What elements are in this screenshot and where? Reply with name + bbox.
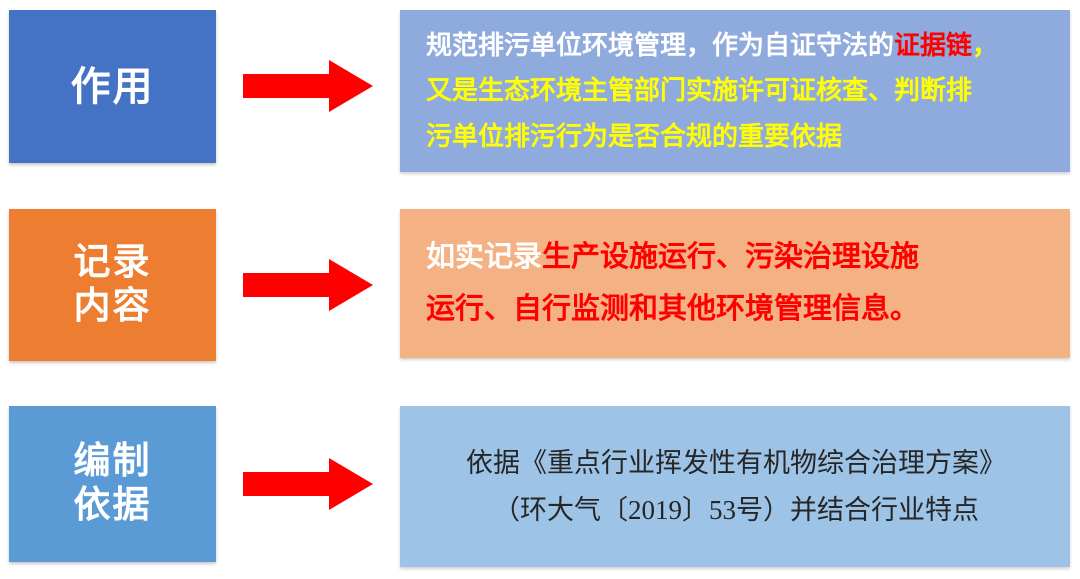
content-text-segment: 如实记录 — [426, 241, 542, 273]
content-text-segment: ， — [972, 31, 998, 60]
row-label-line: 作用 — [71, 63, 155, 110]
diagram-row: 记录内容 如实记录生产设施运行、污染治理设施运行、自行监测和其他环境管理信息。 — [0, 196, 1080, 391]
row-label-line: 内容 — [74, 285, 152, 329]
row-content-box: 依据《重点行业挥发性有机物综合治理方案》（环大气〔2019〕53号）并结合行业特… — [400, 406, 1070, 567]
content-text-line: （环大气〔2019〕53号）并结合行业特点 — [493, 487, 979, 533]
diagram-row: 作用 规范排污单位环境管理，作为自证守法的证据链，又是生态环境主管部门实施许可证… — [0, 0, 1080, 190]
row-label-line: 编制 — [74, 440, 152, 484]
row-content-box: 如实记录生产设施运行、污染治理设施运行、自行监测和其他环境管理信息。 — [400, 209, 1070, 358]
content-text-segment: 规范排污单位环境管理，作为自证守法的 — [426, 31, 894, 60]
content-text-line: 如实记录生产设施运行、污染治理设施 — [426, 232, 1046, 284]
row-label-line: 记录 — [74, 241, 152, 285]
right-arrow-icon — [243, 458, 373, 510]
diagram-row: 编制依据 依据《重点行业挥发性有机物综合治理方案》（环大气〔2019〕53号）并… — [0, 396, 1080, 579]
content-text-segment: （环大气〔2019〕53号）并结合行业特点 — [493, 495, 979, 525]
content-text-segment: 生产设施运行、污染治理设施 — [542, 241, 919, 273]
content-text-line: 污单位排污行为是否合规的重要依据 — [426, 114, 1046, 160]
row-label-box[interactable]: 记录内容 — [9, 209, 216, 361]
row-content-box: 规范排污单位环境管理，作为自证守法的证据链，又是生态环境主管部门实施许可证核查、… — [400, 10, 1070, 172]
row-label-line: 依据 — [74, 484, 152, 528]
content-text-line: 规范排污单位环境管理，作为自证守法的证据链， — [426, 23, 1046, 69]
right-arrow-icon — [243, 259, 373, 311]
process-diagram: 作用 规范排污单位环境管理，作为自证守法的证据链，又是生态环境主管部门实施许可证… — [0, 0, 1080, 579]
content-text-segment: 证据链 — [894, 31, 972, 60]
right-arrow-icon — [243, 60, 373, 112]
content-text-segment: 又是生态环境主管部门实施许可证核查、判断排 — [426, 76, 972, 105]
content-text-segment: 污单位排污行为是否合规的重要依据 — [426, 122, 842, 151]
row-label-box[interactable]: 编制依据 — [9, 406, 216, 562]
content-text-line: 又是生态环境主管部门实施许可证核查、判断排 — [426, 68, 1046, 114]
content-text-line: 运行、自行监测和其他环境管理信息。 — [426, 284, 1046, 336]
row-label-box[interactable]: 作用 — [9, 10, 216, 163]
content-text-segment: 依据《重点行业挥发性有机物综合治理方案》 — [466, 448, 1006, 478]
content-text-segment: 运行、自行监测和其他环境管理信息。 — [426, 293, 919, 325]
content-text-line: 依据《重点行业挥发性有机物综合治理方案》 — [466, 440, 1006, 486]
